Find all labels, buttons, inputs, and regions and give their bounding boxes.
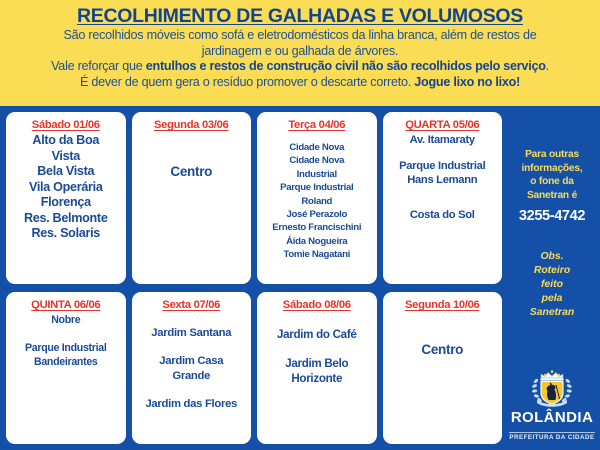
list-item: Centro (170, 163, 212, 180)
list-item: Vila Operária (24, 180, 108, 196)
contact-info-line-4: Sanetran é (504, 189, 600, 203)
schedule-card-segunda-03-06[interactable]: Segunda 03/06 Centro (132, 112, 252, 284)
schedule-board: Sábado 01/06 Alto da Boa Vista Bela Vist… (0, 106, 600, 450)
card-neighborhood-list: Nobre Parque Industrial Bandeirantes (25, 313, 106, 369)
header-description-line-1: São recolhidos móveis como sofá e eletro… (6, 28, 594, 44)
schedule-card-terca-04-06[interactable]: Terça 04/06 Cidade Nova Cidade Nova Indu… (257, 112, 377, 284)
card-neighborhood-list: Alto da Boa Vista Bela Vista Vila Operár… (24, 133, 108, 242)
list-item: Tomie Nagatani (272, 248, 361, 261)
list-item: Jardim Belo (277, 356, 357, 371)
list-item: Parque Industrial (25, 341, 106, 355)
schedule-card-quinta-06-06[interactable]: QUINTA 06/06 Nobre Parque Industrial Ban… (6, 292, 126, 444)
list-item: Alto da Boa (24, 133, 108, 149)
card-date: Terça 04/06 (288, 119, 345, 131)
header-description-line-2: jardinagem e ou galhada de árvores. (6, 44, 594, 60)
observation-line-3: feito (504, 278, 600, 292)
contact-sidebar: Para outras informações, o fone da Sanet… (504, 106, 600, 450)
header-description-line-4: É dever de quem gera o resíduo promover … (6, 75, 594, 91)
schedule-row-1: Sábado 01/06 Alto da Boa Vista Bela Vist… (6, 112, 502, 284)
list-item: Centro (421, 341, 463, 358)
list-item: Bandeirantes (25, 355, 106, 369)
list-item: Cidade Nova (272, 154, 361, 167)
observation-line-2: Roteiro (504, 264, 600, 278)
coat-of-arms-icon (526, 367, 578, 409)
card-date: Sexta 07/06 (162, 299, 220, 311)
list-item: Costa do Sol (399, 208, 485, 223)
card-date: Segunda 10/06 (405, 299, 479, 311)
list-item: Jardim das Flores (145, 397, 237, 412)
header-line3-prefix: Vale reforçar que (51, 59, 146, 73)
contact-info-line-3: o fone da (504, 175, 600, 189)
list-item: Vista (24, 149, 108, 165)
schedule-card-sabado-01-06[interactable]: Sábado 01/06 Alto da Boa Vista Bela Vist… (6, 112, 126, 284)
city-name: ROLÂNDIA (504, 410, 600, 426)
list-item: Ernesto Francischini (272, 221, 361, 234)
list-item: Parque Industrial (272, 181, 361, 194)
card-neighborhood-list: Centro (421, 341, 463, 358)
observation-line-1: Obs. (504, 250, 600, 264)
contact-phone-number[interactable]: 3255-4742 (504, 208, 600, 224)
card-date: QUARTA 05/06 (405, 119, 479, 131)
list-item: Av. Itamaraty (399, 133, 485, 148)
card-date: QUINTA 06/06 (31, 299, 100, 311)
contact-info-line-1: Para outras (504, 148, 600, 162)
list-item: Res. Solaris (24, 226, 108, 242)
schedule-card-sexta-07-06[interactable]: Sexta 07/06 Jardim Santana Jardim Casa G… (132, 292, 252, 444)
city-subtitle: PREFEITURA DA CIDADE (509, 432, 594, 441)
list-item: Parque Industrial (399, 159, 485, 174)
list-item: Bela Vista (24, 164, 108, 180)
list-item: Grande (145, 369, 237, 384)
list-item: Jardim do Café (277, 327, 357, 342)
city-logo: ROLÂNDIA PREFEITURA DA CIDADE (504, 367, 600, 444)
list-item: Nobre (25, 313, 106, 327)
list-item: Horizonte (277, 371, 357, 386)
schedule-card-quarta-05-06[interactable]: QUARTA 05/06 Av. Itamaraty Parque Indust… (383, 112, 503, 284)
header-line4-prefix: É dever de quem gera o resíduo promover … (80, 75, 414, 89)
card-neighborhood-list: Cidade Nova Cidade Nova Industrial Parqu… (272, 141, 361, 262)
contact-info-text: Para outras informações, o fone da Sanet… (504, 148, 600, 202)
card-date: Sábado 01/06 (32, 119, 100, 131)
card-neighborhood-list: Jardim Santana Jardim Casa Grande Jardim… (145, 313, 237, 412)
crown-icon (540, 370, 563, 380)
list-item: Industrial (272, 168, 361, 181)
header-line4-emphasis: Jogue lixo no lixo! (414, 75, 520, 89)
schedule-card-sabado-08-06[interactable]: Sábado 08/06 Jardim do Café Jardim Belo … (257, 292, 377, 444)
header-description-line-3: Vale reforçar que entulhos e restos de c… (6, 59, 594, 75)
list-item: Jardim Casa (145, 354, 237, 369)
card-neighborhood-list: Av. Itamaraty Parque Industrial Hans Lem… (399, 133, 485, 222)
list-item: Áida Nogueira (272, 235, 361, 248)
schedule-card-segunda-10-06[interactable]: Segunda 10/06 Centro (383, 292, 503, 444)
header-line3-suffix: . (546, 59, 549, 73)
observation-line-5: Sanetran (504, 306, 600, 320)
schedule-row-2: QUINTA 06/06 Nobre Parque Industrial Ban… (6, 292, 502, 444)
observation-note: Obs. Roteiro feito pela Sanetran (504, 250, 600, 320)
card-neighborhood-list: Centro (170, 163, 212, 180)
observation-line-4: pela (504, 292, 600, 306)
announcement-header: RECOLHIMENTO DE GALHADAS E VOLUMOSOS São… (0, 0, 600, 106)
list-item: Res. Belmonte (24, 211, 108, 227)
header-line3-emphasis: entulhos e restos de construção civil nã… (146, 59, 546, 73)
contact-info-line-2: informações, (504, 162, 600, 176)
list-item: José Perazolo (272, 208, 361, 221)
list-item: Cidade Nova (272, 141, 361, 154)
card-neighborhood-list: Jardim do Café Jardim Belo Horizonte (277, 313, 357, 386)
list-item: Roland (272, 195, 361, 208)
card-date: Sábado 08/06 (283, 299, 351, 311)
page-title: RECOLHIMENTO DE GALHADAS E VOLUMOSOS (6, 4, 594, 28)
list-item: Florença (24, 195, 108, 211)
list-item: Jardim Santana (145, 326, 237, 341)
list-item: Hans Lemann (399, 173, 485, 188)
card-date: Segunda 03/06 (154, 119, 228, 131)
